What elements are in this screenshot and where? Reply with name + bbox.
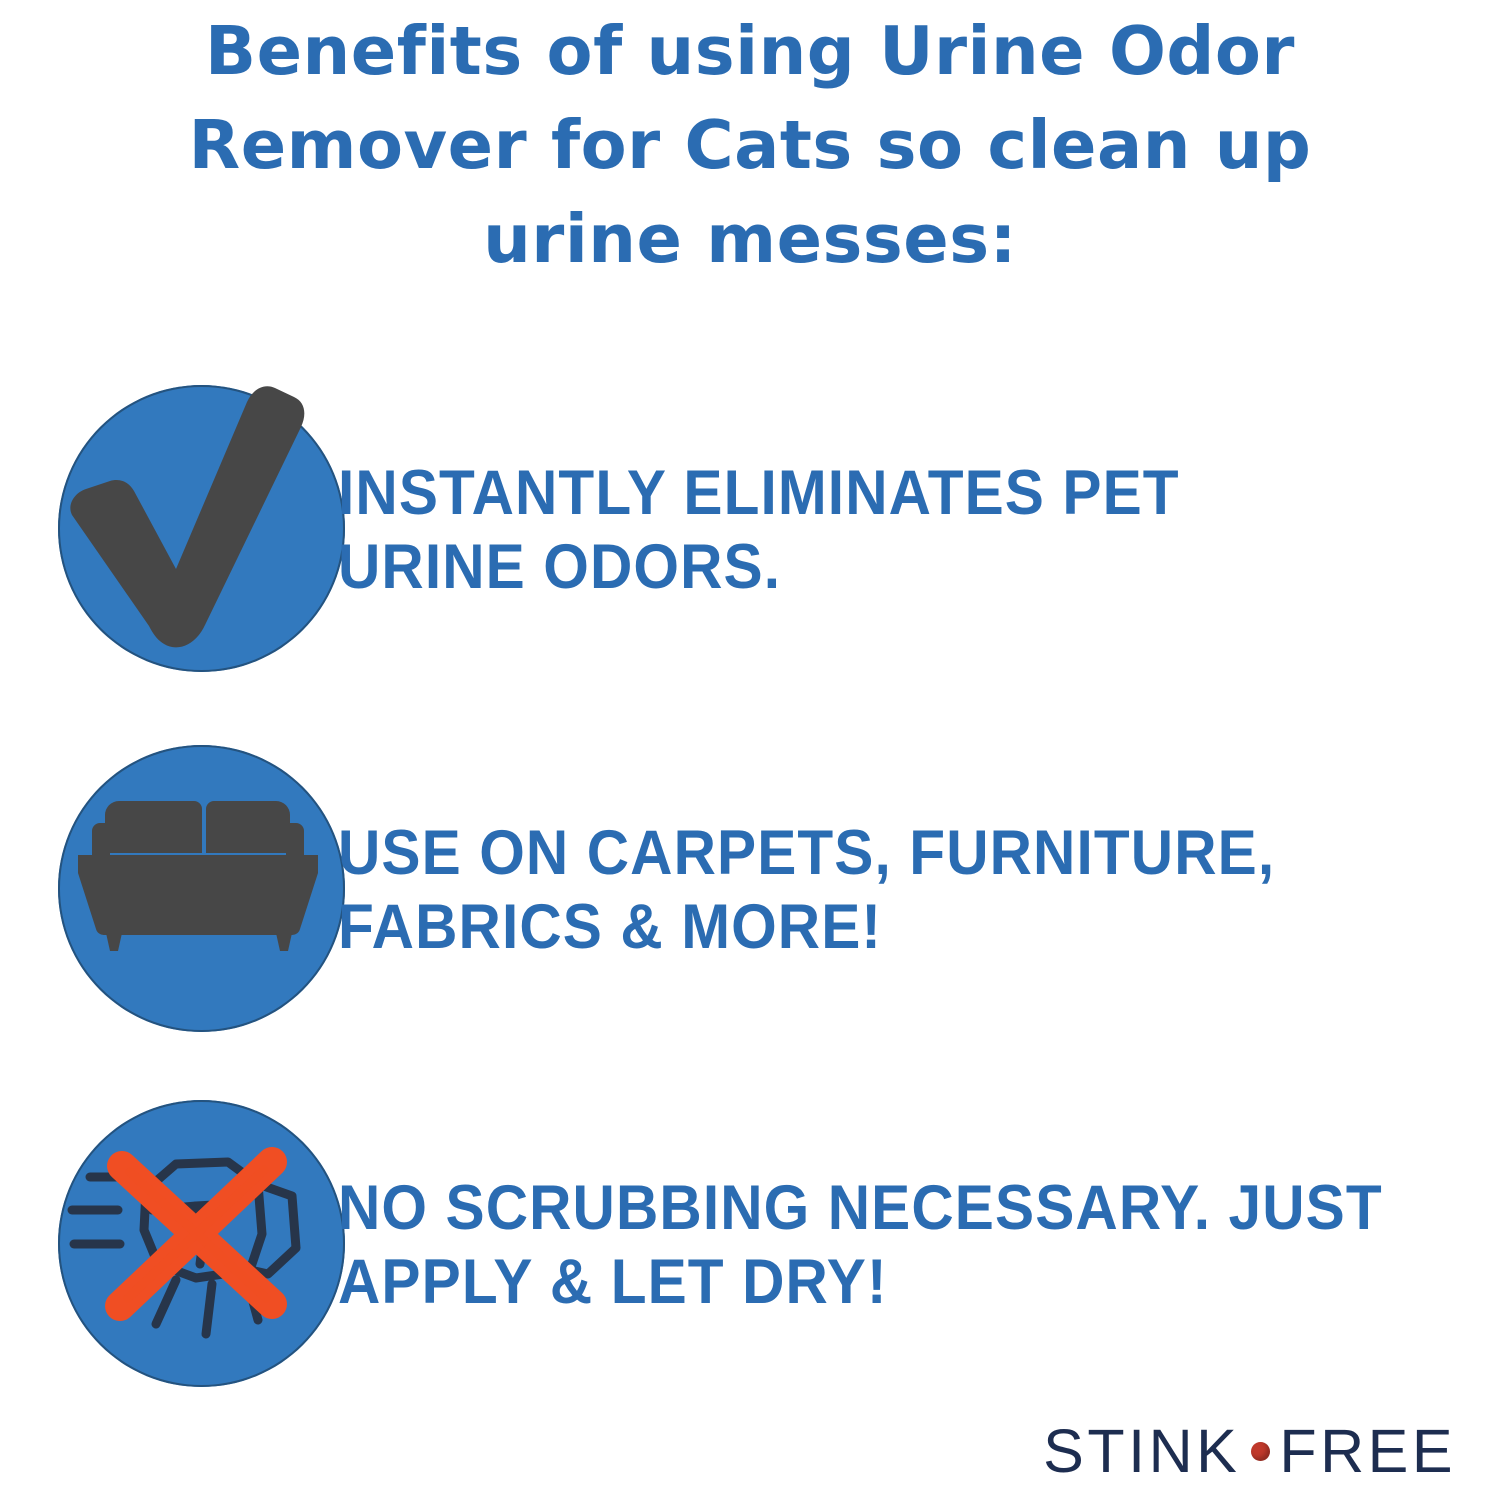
benefit-label-line-2: URINE ODORS. [338, 530, 1391, 604]
benefit-item: NO SCRUBBING NECESSARY. JUST APPLY & LET… [0, 1100, 1500, 1390]
benefit-label: INSTANTLY ELIMINATES PET URINE ODORS. [338, 456, 1419, 604]
page-title: Benefits of using Urine Odor Remover for… [0, 4, 1500, 286]
benefit-icon-container [0, 385, 338, 675]
no-scrubbing-icon [0, 1058, 338, 1398]
benefit-label-line-1: INSTANTLY ELIMINATES PET [338, 456, 1391, 530]
benefit-label-line-1: USE ON CARPETS, FURNITURE, [338, 816, 1391, 890]
sofa-icon [0, 703, 338, 1043]
benefit-label: USE ON CARPETS, FURNITURE, FABRICS & MOR… [338, 816, 1419, 964]
page-title-line-1: Benefits of using Urine Odor [0, 4, 1500, 98]
checkmark-icon [0, 343, 338, 683]
benefit-item: USE ON CARPETS, FURNITURE, FABRICS & MOR… [0, 745, 1500, 1035]
benefit-label-line-1: NO SCRUBBING NECESSARY. JUST [338, 1171, 1391, 1245]
benefit-item: INSTANTLY ELIMINATES PET URINE ODORS. [0, 385, 1500, 675]
benefit-label-line-2: FABRICS & MORE! [338, 890, 1391, 964]
benefit-label: NO SCRUBBING NECESSARY. JUST APPLY & LET… [338, 1171, 1419, 1319]
logo-word-stink: STINK [1043, 1420, 1240, 1482]
benefit-label-line-2: APPLY & LET DRY! [338, 1245, 1391, 1319]
logo-dot-icon [1251, 1442, 1270, 1461]
logo-word-free: FREE [1279, 1420, 1456, 1482]
benefit-icon-container [0, 745, 338, 1035]
brand-logo: STINK FREE [1043, 1420, 1456, 1482]
page-title-line-2: Remover for Cats so clean up [0, 98, 1500, 192]
benefit-icon-container [0, 1100, 338, 1390]
page-title-line-3: urine messes: [0, 192, 1500, 286]
